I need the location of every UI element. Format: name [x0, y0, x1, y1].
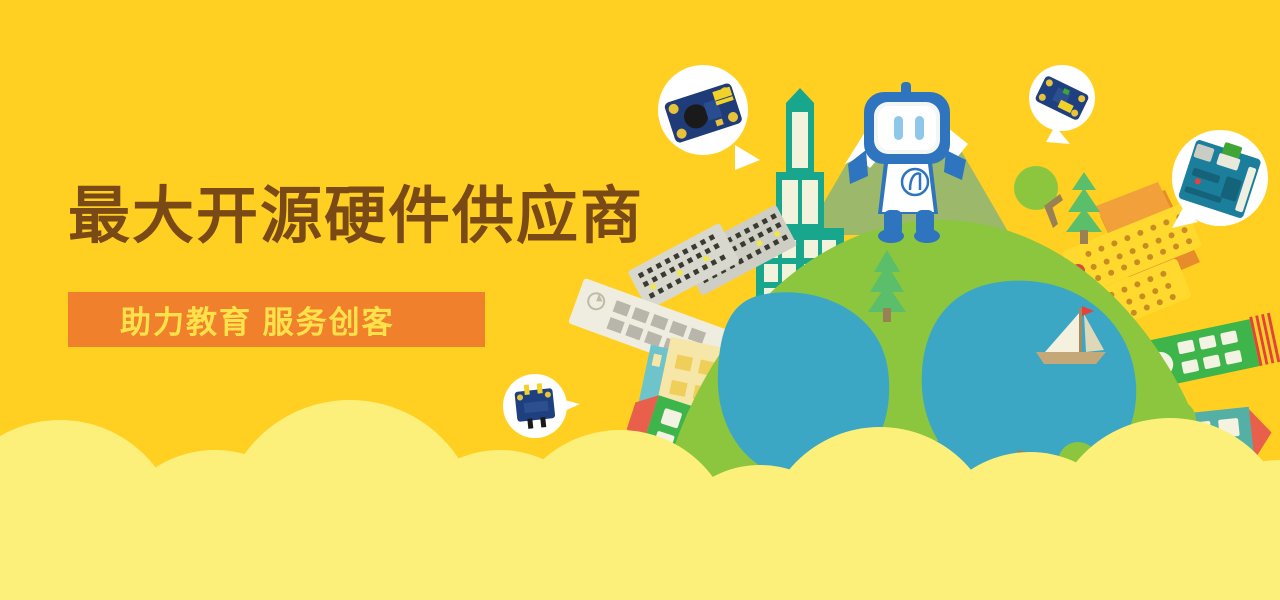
tagline-box: 助力教育 服务创客: [68, 292, 485, 347]
tagline-text: 助力教育 服务创客: [68, 297, 395, 342]
page-title: 最大开源硬件供应商: [68, 180, 588, 254]
banner-text-block: 最大开源硬件供应商 助力教育 服务创客: [68, 180, 588, 347]
hero-banner: 最大开源硬件供应商 助力教育 服务创客: [0, 0, 1280, 600]
